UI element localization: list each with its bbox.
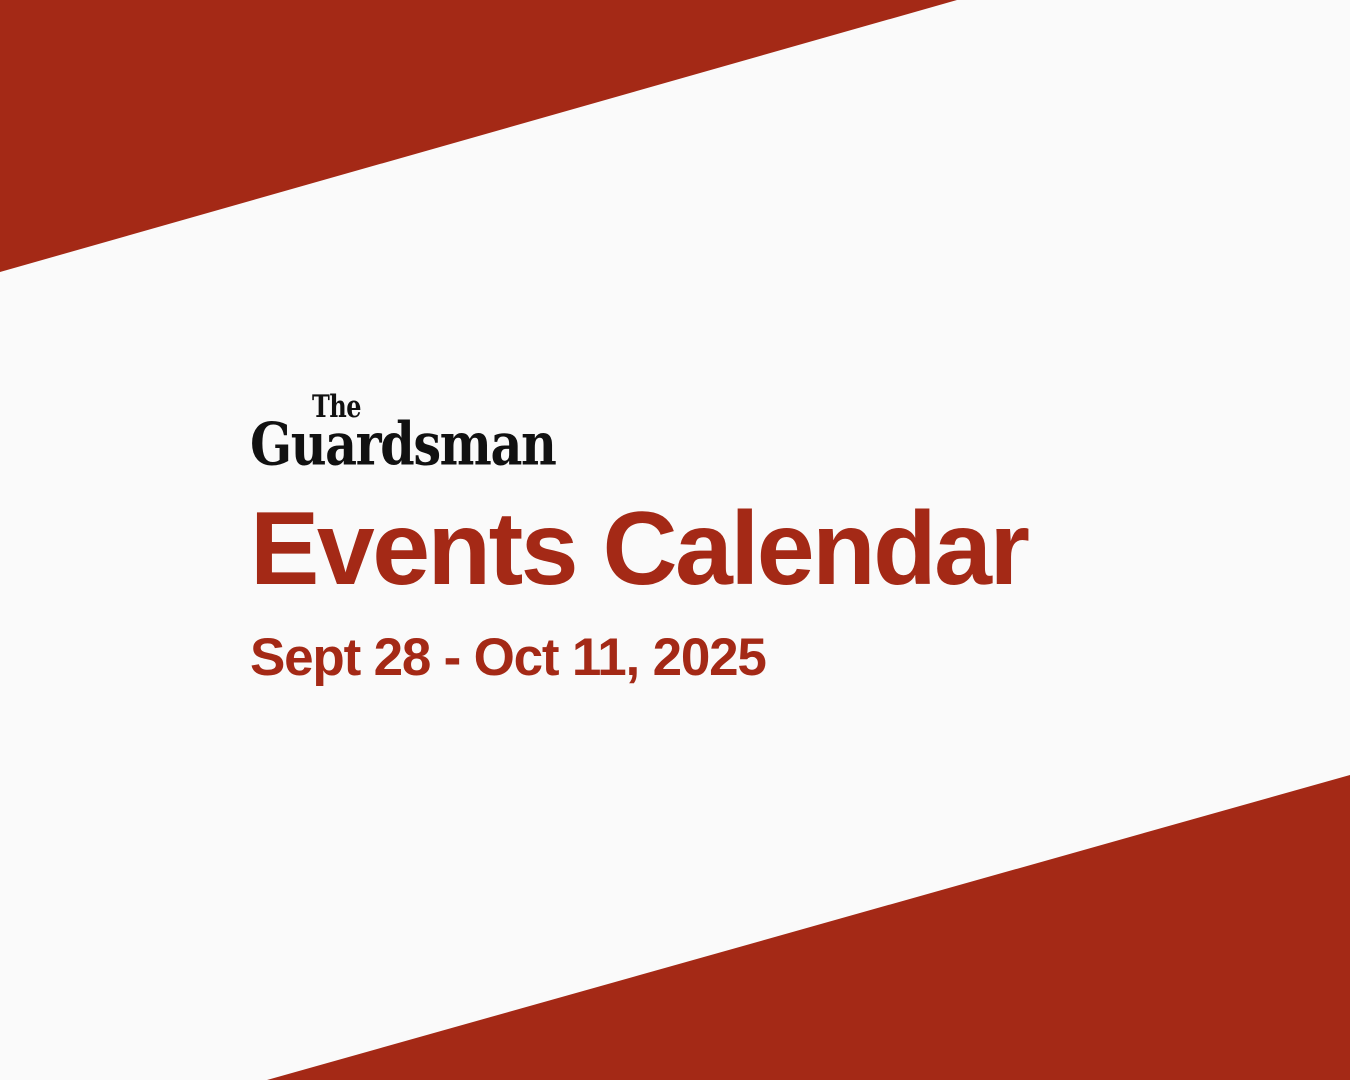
top-left-red-diagonal-icon — [0, 0, 957, 272]
masthead-wordmark-guardsman: Guardsman — [250, 415, 555, 474]
date-range-subtitle: Sept 28 - Oct 11, 2025 — [250, 630, 1200, 686]
page-title: Events Calendar — [250, 496, 1200, 602]
guardsman-logo: The Guardsman — [250, 392, 1200, 474]
poster-content: The Guardsman Events Calendar Sept 28 - … — [250, 392, 1200, 686]
events-calendar-poster: The Guardsman Events Calendar Sept 28 - … — [0, 0, 1350, 1080]
bottom-right-red-diagonal-icon — [267, 775, 1350, 1080]
